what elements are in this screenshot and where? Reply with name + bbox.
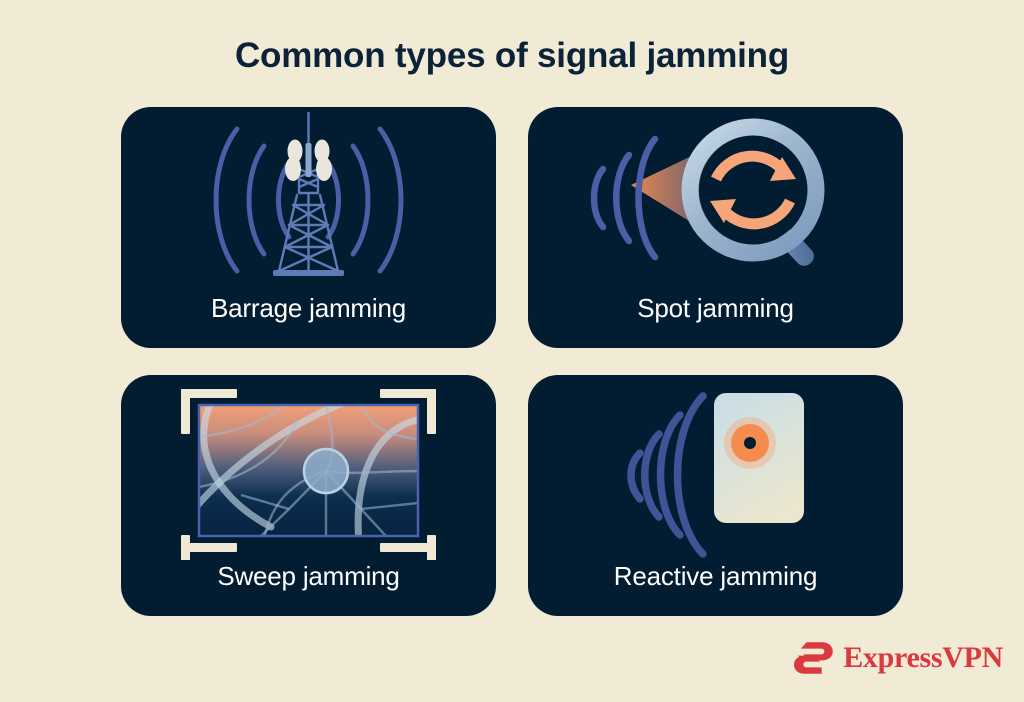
- magnifier-refresh-icon: [528, 107, 903, 292]
- card-reactive-jamming[interactable]: Reactive jamming: [528, 375, 903, 616]
- expressvpn-brand: ExpressVPN: [792, 641, 1003, 675]
- radio-tower-icon: [121, 107, 496, 292]
- card-barrage-jamming[interactable]: Barrage jamming: [121, 107, 496, 348]
- infographic-page: Common types of signal jamming: [0, 0, 1024, 702]
- page-title: Common types of signal jamming: [0, 36, 1024, 76]
- card-label: Sweep jamming: [121, 561, 496, 592]
- card-label: Barrage jamming: [121, 293, 496, 324]
- map-viewfinder-icon: [121, 375, 496, 560]
- expressvpn-logo-icon: [792, 641, 834, 675]
- jamming-types-grid: Barrage jamming: [121, 107, 903, 616]
- card-spot-jamming[interactable]: Spot jamming: [528, 107, 903, 348]
- card-label: Reactive jamming: [528, 561, 903, 592]
- card-sweep-jamming[interactable]: Sweep jamming: [121, 375, 496, 616]
- card-label: Spot jamming: [528, 293, 903, 324]
- brand-name: ExpressVPN: [843, 643, 1003, 673]
- device-target-signal-icon: [528, 375, 903, 560]
